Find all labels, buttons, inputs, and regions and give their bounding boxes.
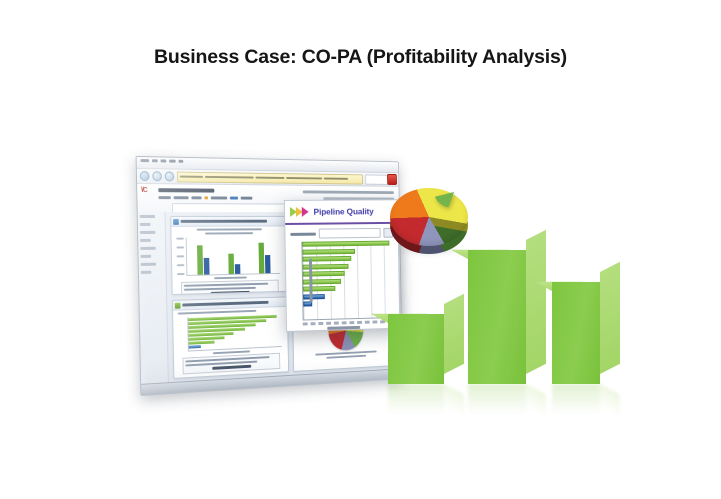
- axis-tick: [176, 238, 184, 240]
- panel-title: [182, 301, 268, 307]
- bar-reflection: [468, 384, 526, 414]
- url-text-segment: [324, 178, 348, 180]
- bar-side-face: [444, 294, 464, 374]
- sidebar-item[interactable]: [140, 231, 155, 234]
- panel-body: [171, 225, 286, 294]
- bar-group: [228, 254, 240, 274]
- url-text-segment: [255, 177, 284, 179]
- bar: [189, 341, 215, 345]
- chart-icon: [175, 302, 181, 308]
- funnel-icon: [290, 205, 310, 218]
- dashboard-panel-funnel[interactable]: [172, 296, 289, 378]
- bar-front-face: [468, 250, 526, 384]
- bar: [303, 286, 336, 292]
- chart-footnote: [327, 355, 367, 359]
- criteria-link[interactable]: [230, 197, 238, 200]
- criteria-label: [158, 196, 170, 199]
- bar: [228, 254, 234, 274]
- y-axis-ticks: [176, 238, 186, 276]
- chart-caption: [197, 228, 262, 230]
- bar: [302, 241, 389, 247]
- forward-icon[interactable]: [152, 171, 162, 181]
- filter-label: [290, 232, 316, 235]
- url-text-segment: [180, 176, 203, 178]
- menu-item[interactable]: [152, 159, 158, 162]
- criteria-chip[interactable]: [241, 197, 253, 200]
- chart-caption: [178, 310, 257, 315]
- axis-tick: [177, 255, 185, 257]
- artwork-composite-image: \/C: [130, 150, 600, 412]
- menu-item[interactable]: [140, 159, 149, 162]
- legend-line: [184, 283, 269, 287]
- address-bar[interactable]: [177, 171, 363, 184]
- popup-title: Pipeline Quality: [313, 206, 373, 216]
- criteria-chip[interactable]: [174, 196, 189, 199]
- bar: [235, 264, 241, 274]
- criteria-chip[interactable]: [211, 196, 227, 199]
- sidebar-item[interactable]: [141, 263, 156, 266]
- x-axis-ticks: [303, 320, 394, 326]
- app-logo: \/C: [141, 187, 147, 194]
- chart-caption: [205, 232, 253, 234]
- bar: [265, 255, 271, 273]
- legend-line: [213, 365, 252, 370]
- bar-front-face: [552, 282, 600, 384]
- sidebar-item[interactable]: [140, 247, 155, 250]
- x-axis-label: [214, 277, 246, 280]
- bar-3d: [388, 314, 444, 384]
- sidebar-item[interactable]: [141, 271, 152, 274]
- criteria-row: [158, 196, 252, 199]
- popup-toolbar: [290, 228, 393, 239]
- bar-reflection: [552, 384, 600, 414]
- chart-legend: [181, 280, 279, 295]
- menu-item[interactable]: [179, 160, 184, 163]
- bar-chart-3d: [388, 238, 600, 410]
- page-title: Business Case: CO-PA (Profitability Anal…: [0, 46, 721, 69]
- chart-legend: [182, 353, 279, 375]
- bar: [197, 245, 203, 274]
- url-text-segment: [286, 177, 322, 179]
- bar-front-face: [388, 314, 444, 384]
- menu-item[interactable]: [169, 160, 176, 163]
- bar-side-face: [600, 262, 620, 374]
- sidebar-item[interactable]: [140, 239, 151, 242]
- app-header-links[interactable]: [303, 190, 394, 194]
- bar-3d: [552, 282, 600, 384]
- bar-group: [258, 243, 270, 274]
- browser-menu-bar[interactable]: [140, 159, 183, 163]
- period-select[interactable]: [319, 228, 381, 239]
- url-text-segment: [205, 176, 254, 179]
- popup-header: Pipeline Quality: [285, 200, 398, 225]
- bar-3d: [468, 250, 526, 384]
- grouped-bar-chart: [186, 237, 280, 276]
- bar: [203, 258, 209, 275]
- bar: [189, 345, 201, 349]
- menu-item[interactable]: [161, 159, 167, 162]
- bar-group: [197, 245, 210, 275]
- bar-side-face: [526, 230, 546, 374]
- criteria-warning-icon: [204, 196, 208, 199]
- bar-reflection-side: [526, 384, 546, 418]
- axis-tick: [176, 246, 184, 248]
- chart-icon: [173, 218, 179, 224]
- bar: [303, 294, 325, 299]
- app-sidebar[interactable]: [138, 212, 169, 385]
- axis-tick: [177, 273, 185, 275]
- sidebar-item[interactable]: [140, 223, 151, 226]
- dashboard-panel-grouped-bars[interactable]: [170, 216, 287, 295]
- back-icon[interactable]: [140, 171, 150, 181]
- sidebar-item[interactable]: [140, 215, 155, 218]
- bar: [258, 243, 264, 274]
- axis-tick: [177, 264, 185, 266]
- criteria-chip[interactable]: [191, 196, 201, 199]
- x-axis-label: [327, 326, 360, 330]
- bar-reflection: [388, 384, 444, 414]
- bar-reflection-side: [600, 384, 620, 418]
- panel-title: [181, 220, 267, 223]
- panel-body: [173, 306, 288, 378]
- pipeline-bar-chart: [301, 241, 393, 321]
- app-title: [158, 188, 214, 192]
- sidebar-item[interactable]: [140, 255, 151, 258]
- refresh-icon[interactable]: [165, 171, 175, 181]
- legend-line: [211, 291, 250, 295]
- bar: [302, 248, 355, 254]
- pie-exploded-slice: [434, 176, 474, 208]
- bar-reflection-side: [444, 384, 464, 418]
- funnel-chart: [187, 314, 281, 352]
